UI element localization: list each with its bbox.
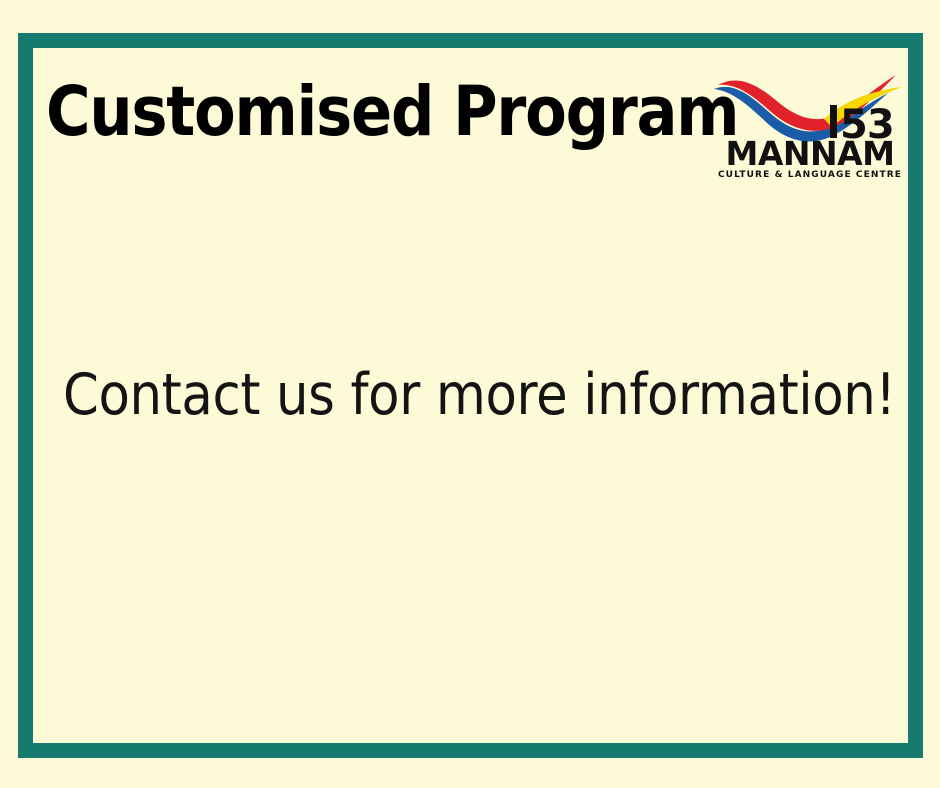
page-title: Customised Program — [46, 74, 644, 150]
slide-canvas: Customised Program Contact us for more i… — [0, 0, 940, 788]
mannam-logo: 53 MANNAM CULTURE & LANGUAGE CENTRE — [712, 57, 908, 183]
body-text: Contact us for more information! — [63, 362, 819, 428]
logo-tagline: CULTURE & LANGUAGE CENTRE — [718, 170, 902, 180]
logo-wordmark: MANNAM — [726, 134, 895, 173]
